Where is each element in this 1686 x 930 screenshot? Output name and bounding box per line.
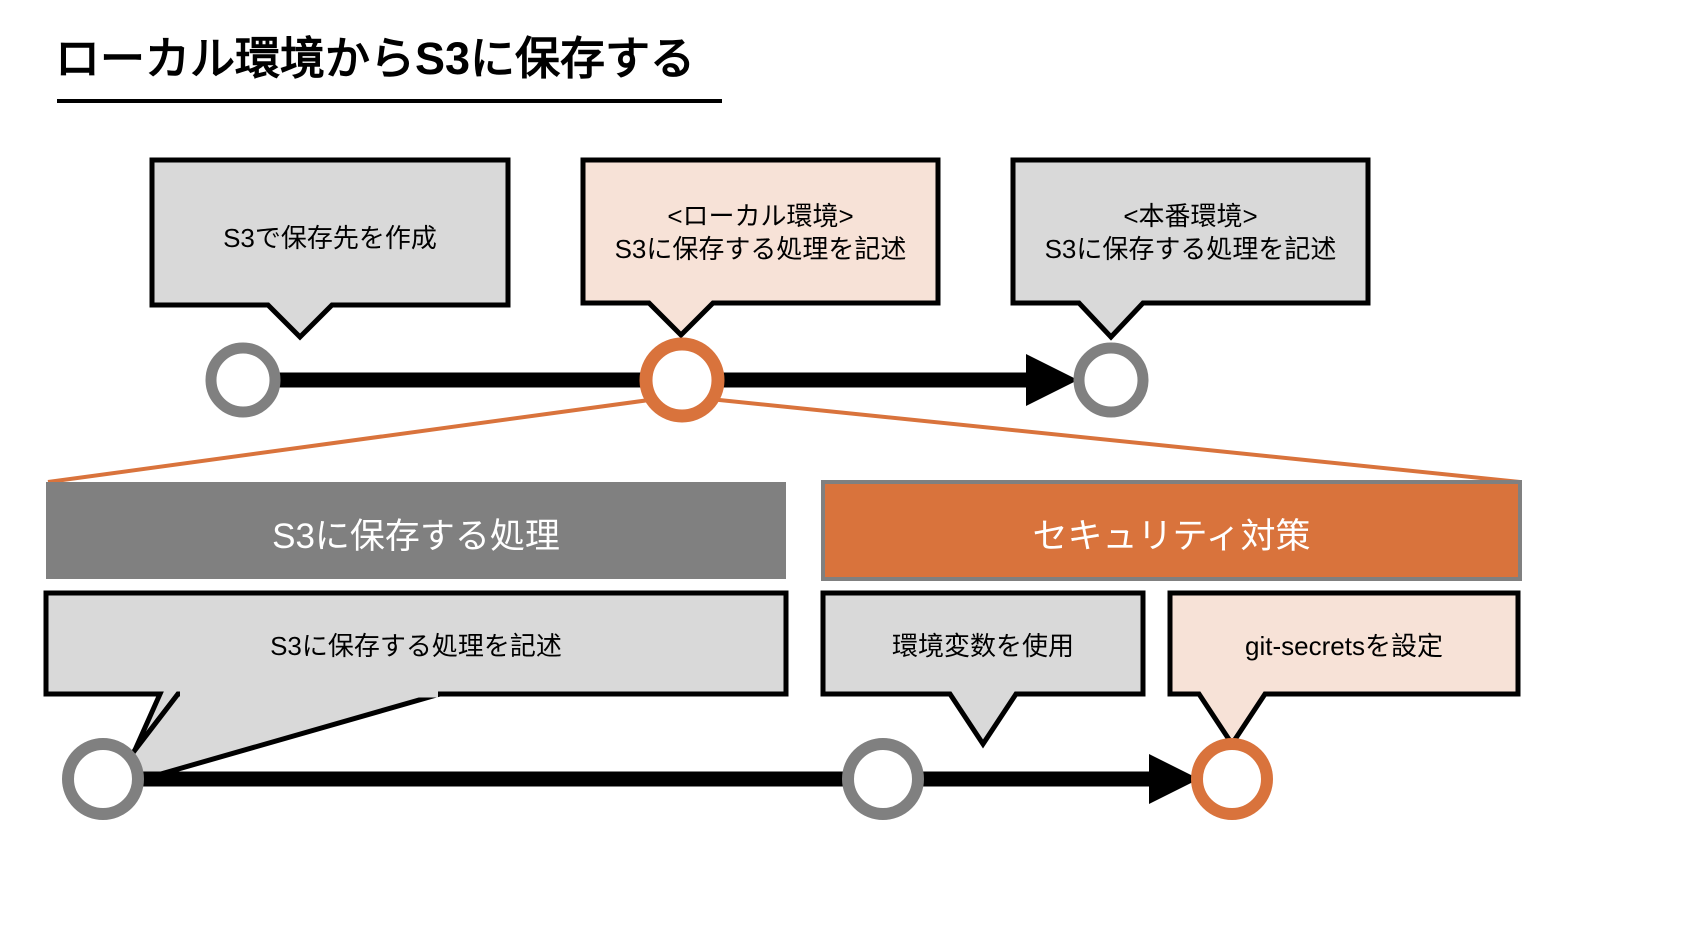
callout-box-local-env[interactable] <box>583 160 938 335</box>
callout-box-production-env[interactable] <box>1013 160 1368 337</box>
timeline-node-b1[interactable] <box>68 744 138 814</box>
top-timeline-arrowhead <box>1026 354 1078 406</box>
callout-box-s3-destination[interactable] <box>152 160 508 337</box>
section-band-save-process[interactable] <box>46 482 786 579</box>
timeline-node-1[interactable] <box>211 348 275 412</box>
section-band-security[interactable] <box>823 482 1520 579</box>
timeline-node-b3[interactable] <box>1197 744 1267 814</box>
timeline-node-3[interactable] <box>1079 348 1143 412</box>
connector-to-save-process <box>48 398 664 482</box>
diagram-canvas: ローカル環境からS3に保存する <box>0 0 1686 930</box>
timeline-node-2[interactable] <box>646 344 718 416</box>
callout-box-setup-git-secrets[interactable] <box>1170 593 1518 744</box>
diagram-shapes <box>0 0 1686 930</box>
callout-box-use-env-vars[interactable] <box>823 593 1143 744</box>
timeline-node-b2[interactable] <box>848 744 918 814</box>
